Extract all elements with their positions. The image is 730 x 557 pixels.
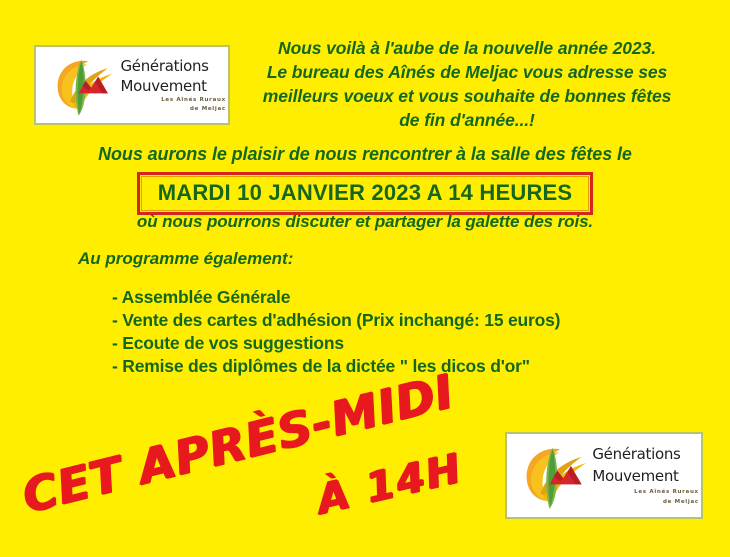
meeting-outro-line: où nous pourrons discuter et partager la… [0, 212, 730, 232]
logo-line1: Générations [592, 445, 680, 463]
greeting-line-3: meilleurs voeux et vous souhaite de bonn… [232, 84, 702, 108]
generations-mouvement-emblem-icon [40, 50, 128, 120]
logo-line2: Mouvement [592, 467, 678, 485]
greeting-paragraph: Nous voilà à l'aube de la nouvelle année… [232, 36, 702, 132]
logo-subtitle-line1: Les Aînés Ruraux [161, 97, 226, 103]
red-stamp-overlay: CET APRÈS-MIDI À 14H [18, 398, 488, 528]
programme-list: - Assemblée Générale - Vente des cartes … [112, 286, 560, 378]
greeting-line-1: Nous voilà à l'aube de la nouvelle année… [232, 36, 702, 60]
date-highlight-text: MARDI 10 JANVIER 2023 A 14 HEURES [158, 180, 573, 206]
stamp-line-1: CET APRÈS-MIDI [17, 364, 459, 524]
meeting-intro-line: Nous aurons le plaisir de nous rencontre… [0, 144, 730, 165]
list-item: - Ecoute de vos suggestions [112, 332, 560, 355]
greeting-line-2: Le bureau des Aînés de Meljac vous adres… [232, 60, 702, 84]
date-highlight-box: MARDI 10 JANVIER 2023 A 14 HEURES [137, 172, 594, 215]
logo-subtitle-line2: de Meljac [190, 106, 226, 112]
logo-top: Générations Mouvement Les Aînés Ruraux d… [34, 45, 230, 125]
list-item: - Assemblée Générale [112, 286, 560, 309]
logo-line1: Générations [120, 57, 208, 75]
logo-subtitle-line2: de Meljac [663, 499, 699, 505]
logo-subtitle-line1: Les Aînés Ruraux [634, 489, 699, 495]
logo-bottom: Générations Mouvement Les Aînés Ruraux d… [505, 432, 703, 519]
greeting-line-4: de fin d'année...! [232, 108, 702, 132]
generations-mouvement-emblem-icon [511, 437, 600, 513]
list-item: - Vente des cartes d'adhésion (Prix inch… [112, 309, 560, 332]
poster-root: Générations Mouvement Les Aînés Ruraux d… [0, 0, 730, 557]
list-item: - Remise des diplômes de la dictée " les… [112, 355, 560, 378]
stamp-line-2: À 14H [313, 443, 467, 523]
programme-title: Au programme également: [78, 249, 293, 269]
logo-line2: Mouvement [120, 77, 206, 95]
date-highlight-wrapper: MARDI 10 JANVIER 2023 A 14 HEURES [0, 172, 730, 215]
